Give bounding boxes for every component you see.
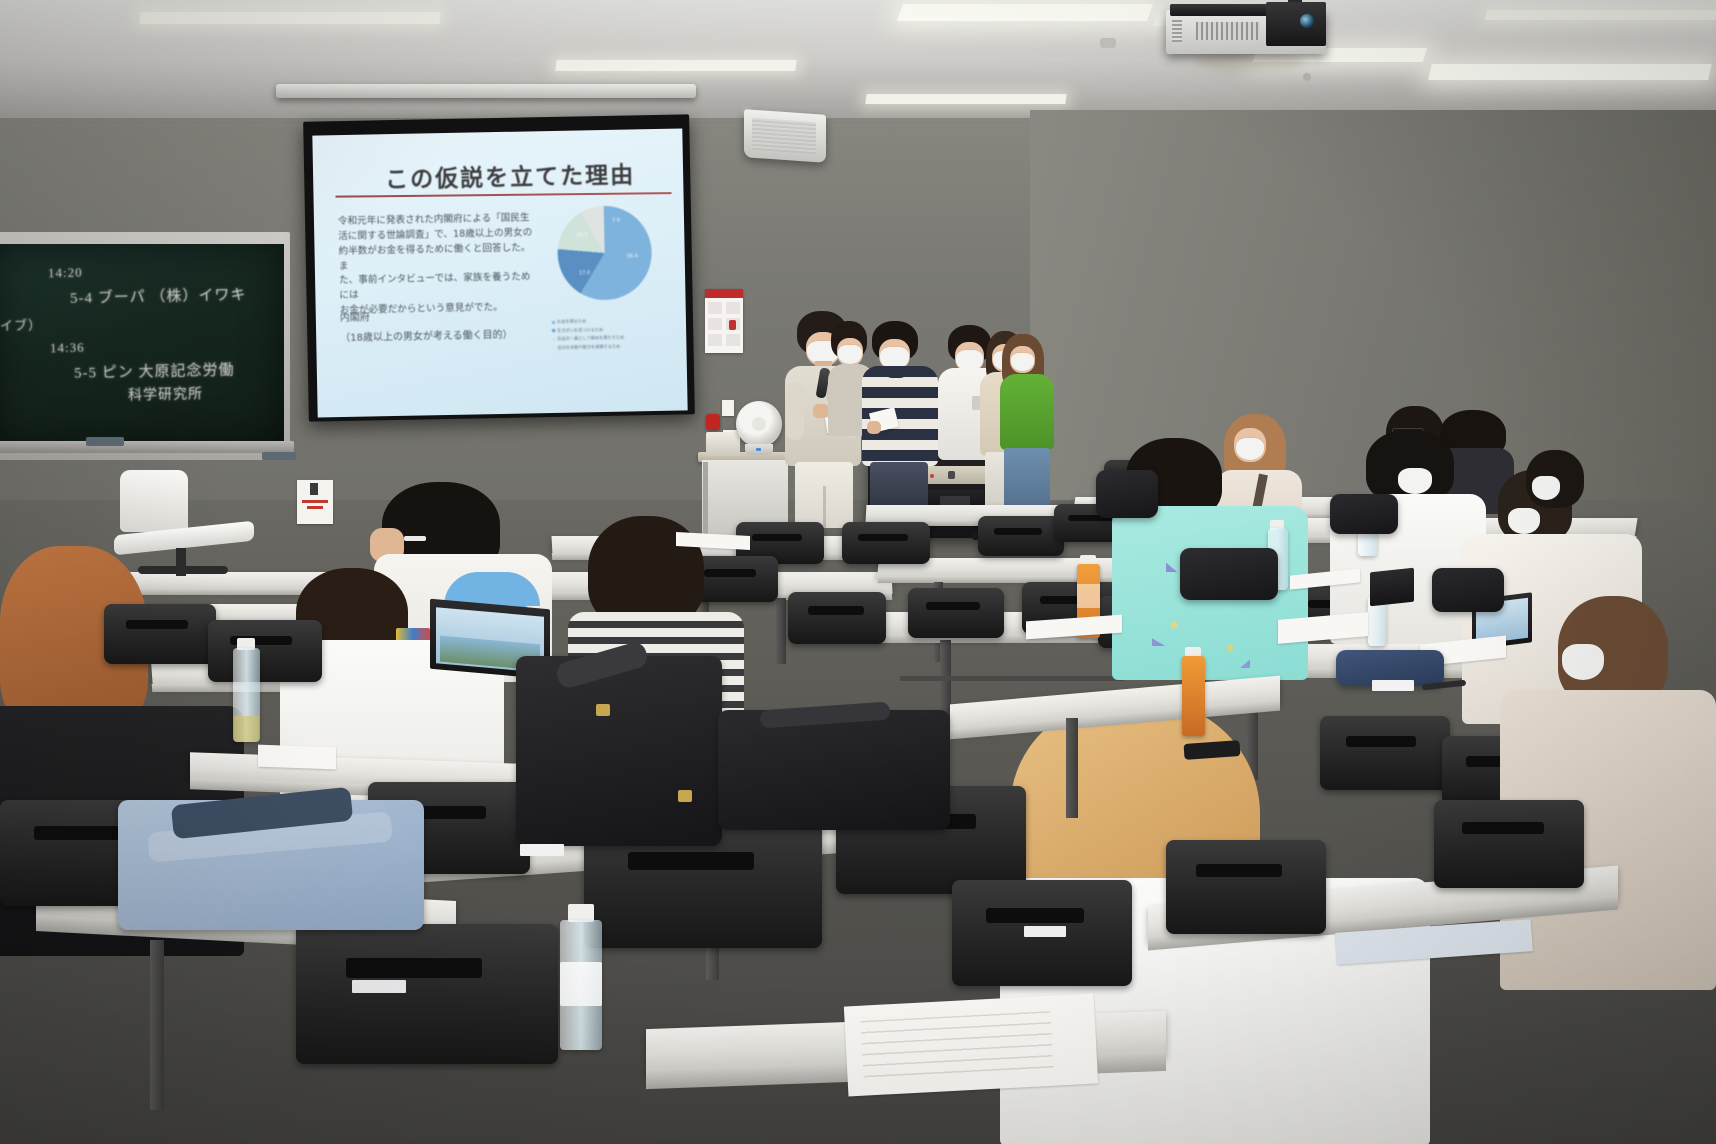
ceiling-light-8 — [1485, 10, 1716, 20]
student-right-cream-mask — [1562, 644, 1604, 680]
legend-swatch-icon — [552, 329, 555, 332]
chair-b6[interactable] — [788, 592, 886, 644]
side-table-leg-left — [703, 462, 708, 536]
chair-b2-slot — [858, 534, 908, 541]
wall-notice-left — [297, 480, 333, 524]
chair-f4-slot — [986, 908, 1084, 923]
pie-chart-legend: お金を得るため生きがいを見つけるため社会の一員として務めを果たすため自分の才能や… — [552, 317, 683, 353]
poster-cell-2 — [726, 302, 740, 314]
chair-f1-label — [352, 980, 406, 993]
ceiling-upper-slab — [0, 0, 1716, 62]
student-right-white-mask — [1398, 468, 1432, 494]
ceiling-sprinkler — [1303, 73, 1311, 81]
blackboard-line-1: 14:20 — [48, 265, 83, 282]
black-bag-rear[interactable] — [1330, 494, 1398, 534]
student-mid-right-1-mask — [1532, 476, 1560, 500]
legend-label: 自分の才能や能力を発揮するため — [557, 343, 620, 350]
presenter-speaking-trouser-split — [823, 486, 826, 528]
notice-red-text — [302, 500, 328, 503]
projector-keypad — [1266, 2, 1326, 46]
pie-chart — [557, 205, 653, 301]
chair-b1-slot — [752, 534, 802, 541]
blackboard-chalk-tray — [0, 441, 294, 453]
ceiling-light-3 — [1428, 64, 1712, 80]
legend-label: お金を得るため — [557, 318, 586, 325]
bottle-left-tea — [234, 716, 259, 742]
desk-label-center — [520, 844, 564, 856]
blackboard-line-3: 14:36 — [50, 340, 85, 357]
blackboard-eraser-2 — [262, 452, 296, 460]
pie-label-1: 17.0 — [579, 270, 590, 276]
chair-b3[interactable] — [978, 516, 1064, 556]
handout-blonde-lines — [861, 1011, 1054, 1079]
chair-f7[interactable] — [104, 604, 216, 664]
ceiling-stain — [1195, 52, 1305, 72]
desk-mid-right-rear-leg — [1066, 718, 1078, 818]
legend-label: 生きがいを見つけるため — [557, 327, 603, 334]
fan-hub-icon — [752, 417, 766, 431]
blackboard-line-4: 5-5 ピン 大原記念労働 — [74, 358, 235, 382]
chair-f8[interactable] — [208, 620, 322, 682]
poster-icon-extinguisher — [729, 320, 736, 330]
projector-side-vent — [1172, 20, 1182, 42]
laptop-far-right[interactable] — [1370, 568, 1414, 607]
aloha-print-4 — [1210, 628, 1250, 668]
chair-b5-slot — [704, 569, 756, 577]
poster-cell-6 — [726, 334, 740, 346]
desk-row-4-rail — [900, 676, 1125, 681]
black-duffel-bag[interactable] — [718, 710, 950, 830]
slide-source-sub: （18歳以上の男女が考える働く目的） — [340, 328, 513, 347]
projector-lens-icon — [1300, 14, 1314, 28]
notice-thumbnail — [310, 483, 318, 495]
presenter-green-jeans — [1004, 448, 1050, 512]
poster-cell-3 — [708, 318, 722, 330]
blackboard-line-2: 5-4 ブーパ （株）イワキ — [70, 283, 247, 308]
blackboard — [0, 244, 284, 444]
student-rear-right-1-mask — [1236, 438, 1264, 460]
legend-item: 自分の才能や能力を発揮するため — [552, 342, 682, 350]
fan-indicator-led — [756, 448, 761, 451]
slide-body: 令和元年に発表された内閣府による「国民生 活に関する世論調査」で、18歳以上の男… — [338, 211, 536, 319]
poster-header — [705, 289, 743, 298]
poster-cell-1 — [708, 302, 722, 314]
ceiling-light-1 — [897, 4, 1153, 21]
bottle-foreground-label — [560, 962, 602, 1006]
legend-item: 社会の一員として務めを果たすため — [552, 334, 682, 342]
presenter-green-torso — [1000, 374, 1054, 450]
pie-label-0: 56.4 — [627, 253, 638, 259]
white-chair-star-base — [138, 566, 228, 574]
aloha-print-3 — [1152, 604, 1196, 646]
legend-swatch-icon — [552, 337, 555, 340]
slide-title: この仮説を立てた理由 — [385, 155, 636, 194]
chair-b7[interactable] — [908, 588, 1004, 638]
ceiling-light-5 — [139, 12, 440, 24]
notice-red-text-2 — [307, 506, 323, 509]
student-blue-print-tee-mask-strap — [404, 536, 426, 541]
chair-b2[interactable] — [842, 522, 930, 564]
legend-item: 生きがいを見つけるため — [552, 325, 682, 333]
presenter-speaking-hand — [813, 404, 829, 418]
presenter-striped-hand — [867, 421, 881, 434]
projection-screen: この仮説を立てた理由 令和元年に発表された内閣府による「国民生 活に関する世論調… — [312, 128, 687, 417]
poster-cell-5 — [708, 334, 722, 346]
chair-f9-slot — [1196, 864, 1282, 877]
blackboard-eraser — [86, 437, 124, 446]
chair-b6-slot — [808, 606, 864, 615]
legend-label: 社会の一員として務めを果たすため — [557, 335, 624, 342]
chair-f9[interactable] — [1166, 840, 1326, 934]
ceiling-light-7 — [865, 94, 1066, 104]
black-bag-back-right[interactable] — [1096, 470, 1158, 518]
presenter-behind-mask — [838, 345, 862, 364]
white-chair-back[interactable] — [120, 470, 188, 532]
side-table-box — [706, 432, 740, 456]
legend-swatch-icon — [552, 346, 555, 349]
chair-f6-slot — [34, 826, 130, 840]
black-bag-aisle[interactable] — [1180, 548, 1278, 600]
fire-alarm-button[interactable] — [706, 414, 720, 430]
wall-notice-small — [722, 400, 734, 416]
chair-f10-slot — [1462, 822, 1544, 834]
student-far-right-edge-mask — [1508, 508, 1540, 534]
rack-panel-knob-2[interactable] — [948, 471, 955, 479]
rack-led-red — [930, 474, 934, 478]
chair-f4-label — [1024, 926, 1066, 937]
black-bag-mid-right[interactable] — [1432, 568, 1504, 612]
screen-roller-case — [276, 84, 696, 98]
chair-f2-slot — [628, 852, 754, 870]
pie-label-3: 7.9 — [612, 218, 620, 224]
handout-foreground-left — [258, 745, 336, 770]
chair-b3-slot — [994, 528, 1042, 535]
speaker-grille — [752, 118, 816, 154]
projector-vent — [1196, 22, 1260, 40]
blackboard-text-left: ライブ） — [0, 314, 42, 334]
ceiling-vent — [1100, 38, 1116, 48]
chair-f1-slot — [346, 958, 482, 978]
orange-tea-bottle-2[interactable] — [1182, 656, 1205, 736]
black-backpack-buckle-2 — [678, 790, 692, 802]
chair-f10[interactable] — [1434, 800, 1584, 888]
orange-tea-label — [1077, 584, 1100, 608]
desk-label-right — [1372, 680, 1414, 691]
chair-b10[interactable] — [1320, 716, 1450, 790]
slide-body-line-3: 約半数がお金を得るために働くと回答した。ま — [338, 241, 535, 274]
black-backpack-buckle — [596, 704, 610, 716]
ceiling-light-6 — [555, 60, 796, 71]
desk-foreground-left-leg — [150, 940, 164, 1110]
black-backpack[interactable] — [516, 656, 722, 846]
chair-f7-slot — [126, 620, 188, 629]
chair-b7-slot — [926, 602, 980, 610]
fire-safety-poster — [705, 289, 743, 353]
legend-swatch-icon — [552, 320, 555, 323]
chair-b10-slot — [1346, 736, 1416, 747]
classroom-photo: ライブ） 14:20 5-4 ブーパ （株）イワキ 14:36 5-5 ピン 大… — [0, 0, 1716, 1144]
presenter-green-mask — [1011, 353, 1034, 371]
presenter-striped-collar — [884, 366, 908, 378]
slide-body-line-4: た、事前インタビューでは、家族を養うためには — [339, 271, 536, 304]
desk-row-3-leg — [776, 598, 786, 664]
presenter-speaking-arm-left — [786, 382, 804, 440]
legend-item: お金を得るため — [552, 317, 682, 325]
slide-source: 内閣府 — [340, 311, 370, 328]
pie-label-2: 14.5 — [576, 232, 587, 238]
blackboard-line-5: 科学研究所 — [128, 383, 203, 405]
chair-f1[interactable] — [296, 924, 558, 1064]
